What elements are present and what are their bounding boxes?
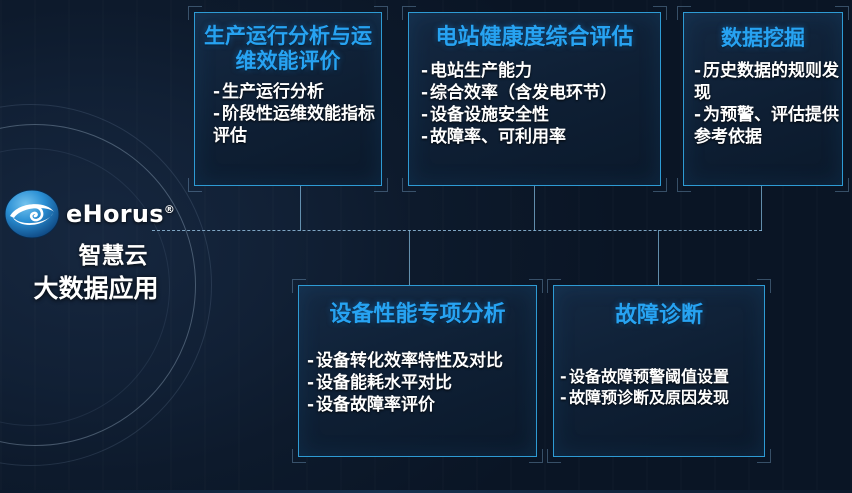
panel-equipment-performance-analysis[interactable]: 设备性能专项分析 -设备转化效率特性及对比 -设备能耗水平对比 -设备故障率评价 xyxy=(298,285,537,457)
connector-to-panel-2 xyxy=(534,186,535,231)
list-item: -生产运行分析 xyxy=(213,81,381,103)
list-item-label: 设备转化效率特性及对比 xyxy=(316,351,503,371)
bullet-dash-icon: - xyxy=(694,104,703,126)
list-item-label: 故障预诊断及原因发现 xyxy=(569,388,729,407)
bullet-dash-icon: - xyxy=(307,350,316,372)
bullet-dash-icon: - xyxy=(560,367,569,388)
bullet-dash-icon: - xyxy=(560,388,569,409)
list-item: -综合效率（含发电环节） xyxy=(421,82,660,104)
list-item-label: 故障率、可利用率 xyxy=(430,127,566,147)
panel-item-list: -设备故障预警阈值设置 -故障预诊断及原因发现 xyxy=(560,367,764,409)
brand-subtitle-line-2: 大数据应用 xyxy=(6,269,186,305)
panel-item-list: -设备转化效率特性及对比 -设备能耗水平对比 -设备故障率评价 xyxy=(307,350,536,416)
brand-name: eHorus® xyxy=(66,200,175,228)
panel-item-list: -历史数据的规则发现 -为预警、评估提供参考依据 xyxy=(694,60,842,148)
list-item: -历史数据的规则发现 xyxy=(694,60,842,104)
list-item-label: 设备故障率评价 xyxy=(316,395,435,415)
panel-title: 数据挖掘 xyxy=(690,26,836,51)
brand-logo-row: eHorus® xyxy=(0,188,186,240)
bullet-dash-icon: - xyxy=(694,60,703,82)
list-item: -设备能耗水平对比 xyxy=(307,372,536,394)
panel-production-operation-analysis[interactable]: 生产运行分析与运维效能评价 -生产运行分析 -阶段性运维效能指标评估 xyxy=(194,12,382,186)
list-item: -故障率、可利用率 xyxy=(421,126,660,148)
panel-fault-diagnosis[interactable]: 故障诊断 -设备故障预警阈值设置 -故障预诊断及原因发现 xyxy=(553,285,765,457)
list-item: -为预警、评估提供参考依据 xyxy=(694,104,842,148)
list-item-label: 设备能耗水平对比 xyxy=(316,373,452,393)
panel-title: 故障诊断 xyxy=(560,303,758,329)
bullet-dash-icon: - xyxy=(421,82,430,104)
connector-to-panel-3 xyxy=(761,186,762,231)
list-item: -阶段性运维效能指标评估 xyxy=(213,103,381,147)
brand-name-text: eHorus xyxy=(66,200,164,228)
list-item-label: 设备故障预警阈值设置 xyxy=(569,367,729,386)
diagram-canvas: eHorus® 智慧云 大数据应用 生产运行分析与运维效能评价 -生产运行分析 … xyxy=(0,0,852,493)
panel-title: 电站健康度综合评估 xyxy=(415,25,654,51)
list-item: -故障预诊断及原因发现 xyxy=(560,388,764,409)
connector-horizontal-spine xyxy=(152,230,762,231)
panel-title: 设备性能专项分析 xyxy=(305,302,530,328)
list-item: -电站生产能力 xyxy=(421,60,660,82)
list-item: -设备故障预警阈值设置 xyxy=(560,367,764,388)
connector-to-panel-1 xyxy=(300,186,301,231)
list-item-label: 电站生产能力 xyxy=(430,61,532,81)
panel-item-list: -电站生产能力 -综合效率（含发电环节） -设备设施安全性 -故障率、可利用率 xyxy=(421,60,660,148)
list-item-label: 历史数据的规则发现 xyxy=(694,61,839,103)
bullet-dash-icon: - xyxy=(307,394,316,416)
bullet-dash-icon: - xyxy=(421,126,430,148)
panel-plant-health-assessment[interactable]: 电站健康度综合评估 -电站生产能力 -综合效率（含发电环节） -设备设施安全性 … xyxy=(408,12,661,186)
bullet-dash-icon: - xyxy=(421,60,430,82)
list-item: -设备设施安全性 xyxy=(421,104,660,126)
list-item-label: 为预警、评估提供参考依据 xyxy=(694,105,839,147)
bullet-dash-icon: - xyxy=(213,103,222,125)
bullet-dash-icon: - xyxy=(421,104,430,126)
brand-subtitle-line-1: 智慧云 xyxy=(40,236,186,270)
bullet-dash-icon: - xyxy=(213,81,222,103)
list-item: -设备转化效率特性及对比 xyxy=(307,350,536,372)
list-item-label: 设备设施安全性 xyxy=(430,105,549,125)
list-item-label: 生产运行分析 xyxy=(222,82,324,102)
trademark-symbol: ® xyxy=(164,203,175,216)
list-item-label: 阶段性运维效能指标评估 xyxy=(213,104,375,146)
eye-logo-icon xyxy=(4,188,60,240)
panel-item-list: -生产运行分析 -阶段性运维效能指标评估 xyxy=(213,81,381,147)
panel-title: 生产运行分析与运维效能评价 xyxy=(201,24,375,74)
connector-to-panel-4 xyxy=(409,230,410,286)
list-item: -设备故障率评价 xyxy=(307,394,536,416)
brand-logo-block: eHorus® 智慧云 大数据应用 xyxy=(0,188,186,305)
connector-to-panel-5 xyxy=(658,230,659,286)
list-item-label: 综合效率（含发电环节） xyxy=(430,83,617,103)
panel-data-mining[interactable]: 数据挖掘 -历史数据的规则发现 -为预警、评估提供参考依据 xyxy=(683,12,843,186)
bullet-dash-icon: - xyxy=(307,372,316,394)
